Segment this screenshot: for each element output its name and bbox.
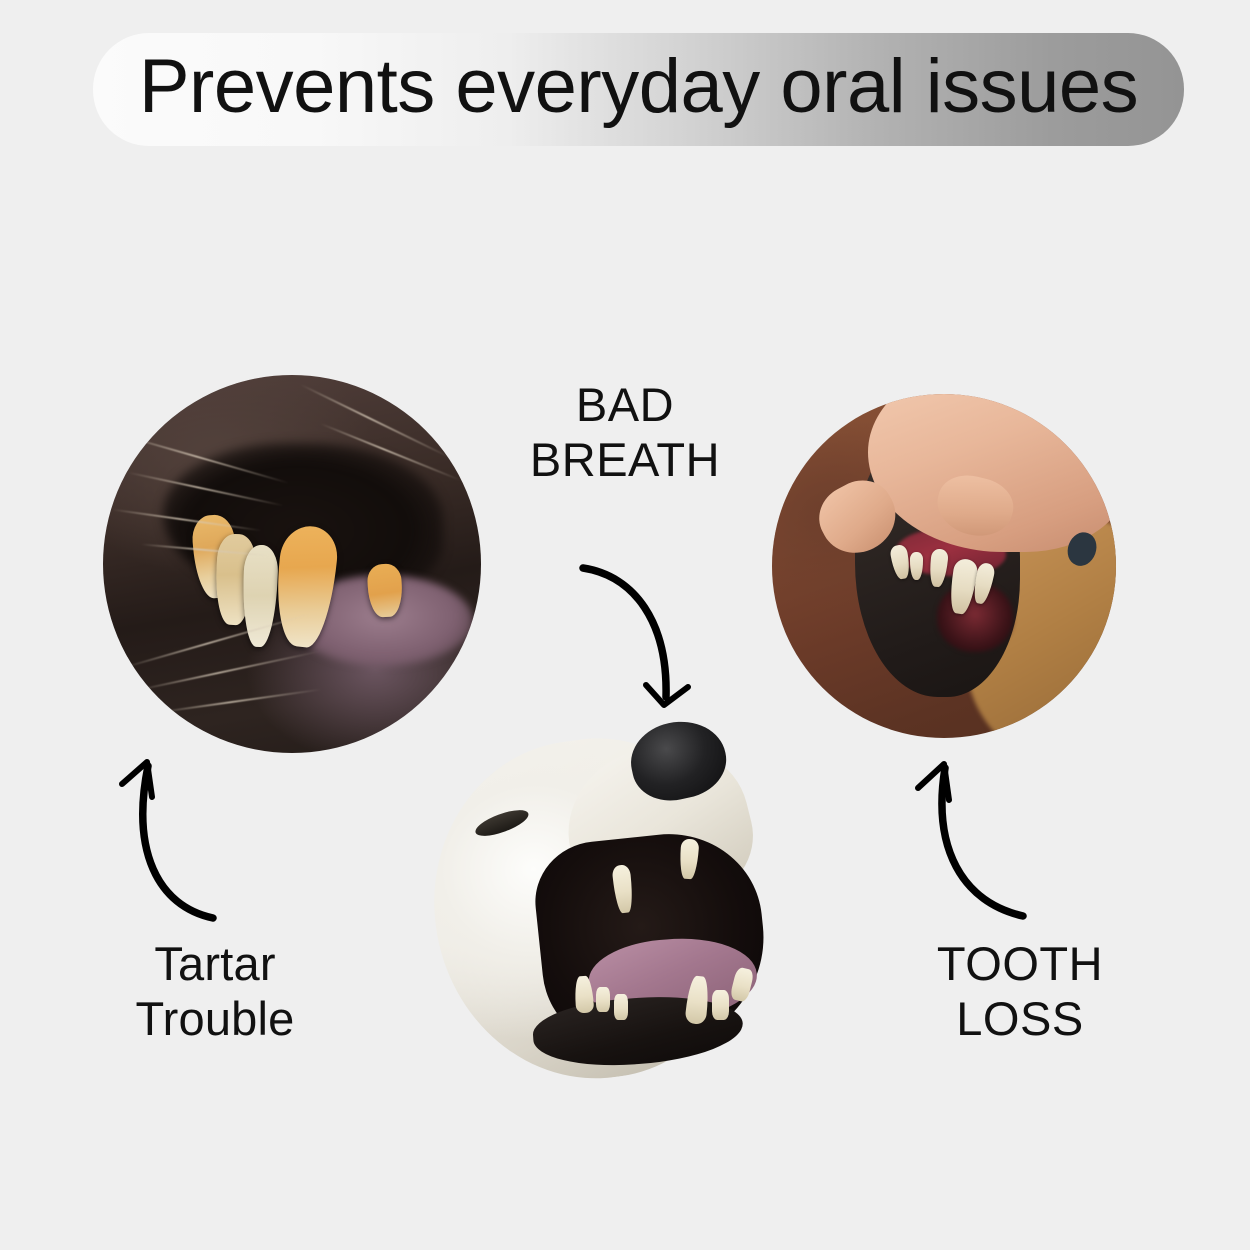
page-title: Prevents everyday oral issues	[139, 49, 1138, 131]
label-bad-breath: BAD BREATH	[455, 378, 795, 487]
photo-dog-open-mouth	[428, 718, 778, 1086]
dog-tooth	[614, 994, 628, 1020]
poster-canvas: Prevents everyday oral issues	[0, 0, 1250, 1250]
photo-tartar-closeup	[103, 375, 481, 753]
dog-tooth	[596, 987, 610, 1013]
dog-tooth	[712, 990, 730, 1019]
arrow-tooth-loss-to-photo	[890, 740, 1080, 950]
header-banner: Prevents everyday oral issues	[93, 33, 1184, 146]
arrow-tartar-to-photo	[95, 740, 285, 950]
label-tooth-loss: TOOTH LOSS	[850, 937, 1190, 1046]
arrow-bad-breath-to-dog	[560, 545, 750, 735]
tartar-photo-content	[103, 375, 481, 753]
tooth-loss-photo-content	[772, 394, 1116, 738]
label-tartar-trouble: Tartar Trouble	[45, 937, 385, 1046]
photo-tooth-loss	[772, 394, 1116, 738]
